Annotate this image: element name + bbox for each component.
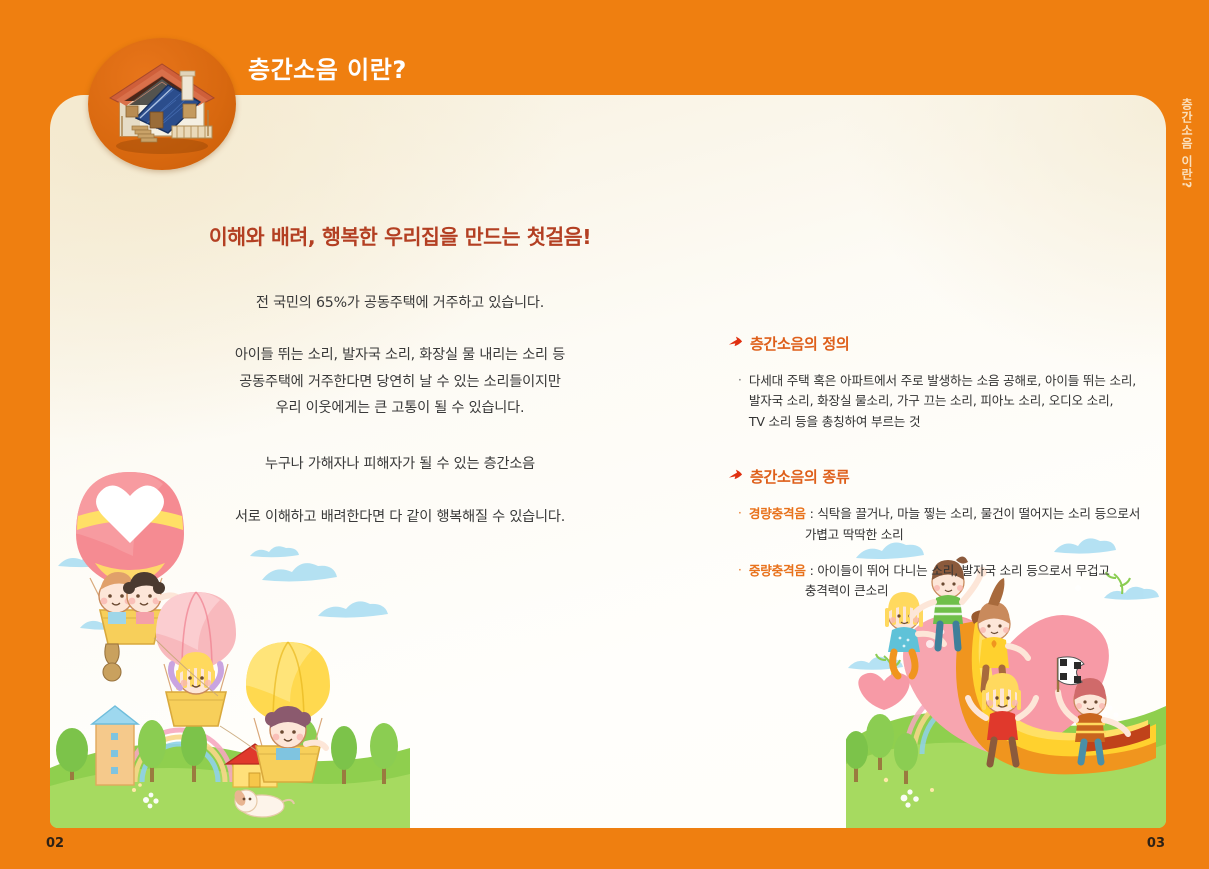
brochure-page: 층간소음 이란? xyxy=(0,0,1209,869)
page-number-right: 03 xyxy=(1147,836,1165,851)
definition-bullet-text: 다세대 주택 혹은 아파트에서 주로 발생하는 소음 공해로, 아이들 뛰는 소… xyxy=(749,371,1136,432)
type-light-impact-separator: : xyxy=(806,506,818,521)
section-definition-header: 층간소음의 정의 xyxy=(728,333,1166,354)
left-paragraph-4: 서로 이해하고 배려한다면 다 같이 행복해질 수 있습니다. xyxy=(150,504,650,530)
left-paragraph-2-line-2: 공동주택에 거주한다면 당연히 날 수 있는 소리들이지만 xyxy=(150,369,650,395)
left-paragraph-3: 누구나 가해자나 피해자가 될 수 있는 층간소음 xyxy=(150,451,650,477)
page-title: 층간소음 이란? xyxy=(248,50,407,85)
definition-line-2: 발자국 소리, 화장실 물소리, 가구 끄는 소리, 피아노 소리, 오디오 소… xyxy=(749,393,1113,408)
type-light-impact-text: 경량충격음 : 식탁을 끌거나, 마늘 찧는 소리, 물건이 떨어지는 소리 등… xyxy=(749,504,1140,545)
type-light-impact-term: 경량충격음 xyxy=(749,506,806,521)
type-heavy-impact-line-2: 충격력이 큰소리 xyxy=(749,581,1110,601)
type-light-impact: · 경량충격음 : 식탁을 끌거나, 마늘 찧는 소리, 물건이 떨어지는 소리… xyxy=(728,504,1166,545)
type-heavy-impact-term: 중량충격음 xyxy=(749,563,806,578)
left-paragraph-2-line-3: 우리 이웃에게는 큰 고통이 될 수 있습니다. xyxy=(150,395,650,421)
section-definition-label: 층간소음의 정의 xyxy=(750,333,849,354)
section-types-label: 층간소음의 종류 xyxy=(750,466,849,487)
house-svg xyxy=(88,38,236,170)
section-definition: 층간소음의 정의 · 다세대 주택 혹은 아파트에서 주로 발생하는 소음 공해… xyxy=(728,333,1166,432)
type-light-impact-line-2: 가볍고 딱딱한 소리 xyxy=(749,525,1140,545)
lead-heading: 이해와 배려, 행복한 우리집을 만드는 첫걸음! xyxy=(150,220,650,250)
right-content-column: 층간소음의 정의 · 다세대 주택 혹은 아파트에서 주로 발생하는 소음 공해… xyxy=(728,333,1166,636)
definition-bullet: · 다세대 주택 혹은 아파트에서 주로 발생하는 소음 공해로, 아이들 뛰는… xyxy=(728,371,1166,432)
type-heavy-impact-line-1: 아이들이 뛰어 다니는 소리, 발자국 소리 등으로서 무겁고 xyxy=(817,563,1109,578)
bullet-dot: · xyxy=(738,561,742,602)
left-paragraph-1: 전 국민의 65%가 공동주택에 거주하고 있습니다. xyxy=(150,290,650,316)
left-paragraph-2-line-1: 아이들 뛰는 소리, 발자국 소리, 화장실 물 내리는 소리 등 xyxy=(150,342,650,368)
page-number-left: 02 xyxy=(46,836,64,851)
content-card: 이해와 배려, 행복한 우리집을 만드는 첫걸음! 전 국민의 65%가 공동주… xyxy=(50,95,1166,828)
arrow-right-icon xyxy=(728,336,743,351)
bullet-dot: · xyxy=(738,371,742,432)
section-types: 층간소음의 종류 · 경량충격음 : 식탁을 끌거나, 마늘 찧는 소리, 물건… xyxy=(728,466,1166,602)
side-tab[interactable]: 층간소음 이란? xyxy=(1172,98,1202,228)
solar-house-illustration-icon xyxy=(88,38,236,170)
bullet-dot: · xyxy=(738,504,742,545)
definition-line-1: 다세대 주택 혹은 아파트에서 주로 발생하는 소음 공해로, 아이들 뛰는 소… xyxy=(749,373,1136,388)
arrow-right-icon xyxy=(728,469,743,484)
definition-line-3: TV 소리 등을 총칭하여 부르는 것 xyxy=(749,414,921,429)
type-heavy-impact-separator: : xyxy=(806,563,818,578)
type-heavy-impact: · 중량충격음 : 아이들이 뛰어 다니는 소리, 발자국 소리 등으로서 무겁… xyxy=(728,561,1166,602)
left-paragraph-2: 아이들 뛰는 소리, 발자국 소리, 화장실 물 내리는 소리 등 공동주택에 … xyxy=(150,342,650,421)
left-text-column: 이해와 배려, 행복한 우리집을 만드는 첫걸음! 전 국민의 65%가 공동주… xyxy=(150,220,650,531)
side-tab-label: 층간소음 이란? xyxy=(1179,98,1196,189)
section-types-header: 층간소음의 종류 xyxy=(728,466,1166,487)
type-heavy-impact-text: 중량충격음 : 아이들이 뛰어 다니는 소리, 발자국 소리 등으로서 무겁고 … xyxy=(749,561,1110,602)
type-light-impact-line-1: 식탁을 끌거나, 마늘 찧는 소리, 물건이 떨어지는 소리 등으로서 xyxy=(817,506,1140,521)
